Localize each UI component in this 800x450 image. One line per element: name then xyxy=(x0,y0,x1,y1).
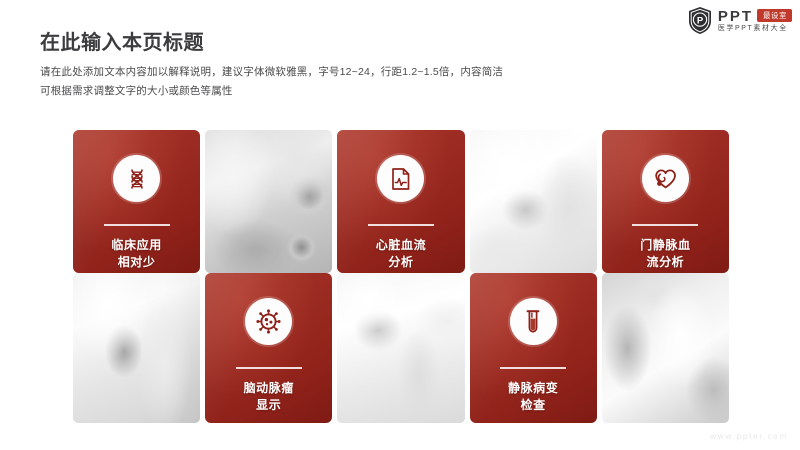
subtitle-line-1: 请在此处添加文本内容加以解释说明，建议字体微软雅黑，字号12~24，行距1.2~… xyxy=(40,63,503,82)
card-label-line-1: 临床应用 xyxy=(111,237,161,254)
card-label-line-2: 相对少 xyxy=(111,254,161,271)
card-label-line-1: 脑动脉瘤 xyxy=(244,380,294,397)
grid-cell-1-3: 心脏血流 分析 xyxy=(337,130,464,273)
grid-cell-2-5 xyxy=(602,273,729,423)
grid-cell-2-1 xyxy=(73,273,200,423)
virus-cell-icon xyxy=(245,298,292,345)
card-label-line-2: 流分析 xyxy=(640,254,690,271)
card-label-line-1: 静脉病变 xyxy=(508,380,558,397)
logo-subtitle: 医学PPT素材大全 xyxy=(718,25,792,32)
subtitle-line-2: 可根据需求调整文字的大小或颜色等属性 xyxy=(40,82,503,101)
card-label: 静脉病变 检查 xyxy=(508,380,558,414)
grid-cell-1-4 xyxy=(470,130,597,273)
card-label: 门静脉血 流分析 xyxy=(640,237,690,271)
grid-cell-2-2: 脑动脉瘤 显示 xyxy=(205,273,332,423)
card-label-line-2: 显示 xyxy=(244,397,294,414)
page-title: 在此输入本页标题 xyxy=(40,26,204,55)
heart-stethoscope-icon xyxy=(642,155,689,202)
brand-logo: P PPT 最设室 医学PPT素材大全 xyxy=(687,6,792,35)
ecg-document-icon xyxy=(377,155,424,202)
card-label-line-2: 检查 xyxy=(508,397,558,414)
card-cardiac-blood-flow[interactable]: 心脏血流 分析 xyxy=(337,130,464,273)
logo-text-block: PPT 最设室 医学PPT素材大全 xyxy=(718,9,792,32)
medical-scene-photo xyxy=(470,130,597,273)
blood-test-tube-icon xyxy=(510,298,557,345)
page-subtitle: 请在此处添加文本内容加以解释说明，建议字体微软雅黑，字号12~24，行距1.2~… xyxy=(40,63,503,102)
card-label-line-1: 门静脉血 xyxy=(640,237,690,254)
slide-canvas: P PPT 最设室 医学PPT素材大全 在此输入本页标题 请在此处添加文本内容加… xyxy=(0,0,800,450)
card-divider xyxy=(236,367,302,369)
grid-cell-2-4: 静脉病变 检查 xyxy=(470,273,597,423)
card-grid: 临床应用 相对少 xyxy=(73,130,729,428)
card-venous-lesion-exam[interactable]: 静脉病变 检查 xyxy=(470,273,597,423)
card-divider xyxy=(368,224,434,226)
footer-watermark: www.ppter.com xyxy=(710,432,788,441)
card-cerebral-aneurysm[interactable]: 脑动脉瘤 显示 xyxy=(205,273,332,423)
card-divider xyxy=(632,224,698,226)
grid-cell-2-3 xyxy=(337,273,464,423)
doctor-stethoscope-photo xyxy=(205,130,332,273)
card-label-line-1: 心脏血流 xyxy=(376,237,426,254)
card-label: 临床应用 相对少 xyxy=(111,237,161,271)
logo-brand-text: PPT xyxy=(718,9,753,24)
card-clinical-application[interactable]: 临床应用 相对少 xyxy=(73,130,200,273)
card-label: 心脏血流 分析 xyxy=(376,237,426,271)
grid-cell-1-1: 临床应用 相对少 xyxy=(73,130,200,273)
card-label-line-2: 分析 xyxy=(376,254,426,271)
card-label: 脑动脉瘤 显示 xyxy=(244,380,294,414)
logo-primary-row: PPT 最设室 xyxy=(718,9,792,24)
logo-badge: 最设室 xyxy=(757,9,792,22)
white-coat-photo xyxy=(73,273,200,423)
dna-helix-icon xyxy=(113,155,160,202)
card-divider xyxy=(104,224,170,226)
card-portal-vein-flow[interactable]: 门静脉血 流分析 xyxy=(602,130,729,273)
grid-cell-1-2 xyxy=(205,130,332,273)
card-divider xyxy=(500,367,566,369)
grid-cell-1-5: 门静脉血 流分析 xyxy=(602,130,729,273)
hallway-blur-photo xyxy=(602,273,729,423)
shield-icon: P xyxy=(687,6,713,35)
clinic-blur-photo xyxy=(337,273,464,423)
svg-text:P: P xyxy=(697,15,704,26)
